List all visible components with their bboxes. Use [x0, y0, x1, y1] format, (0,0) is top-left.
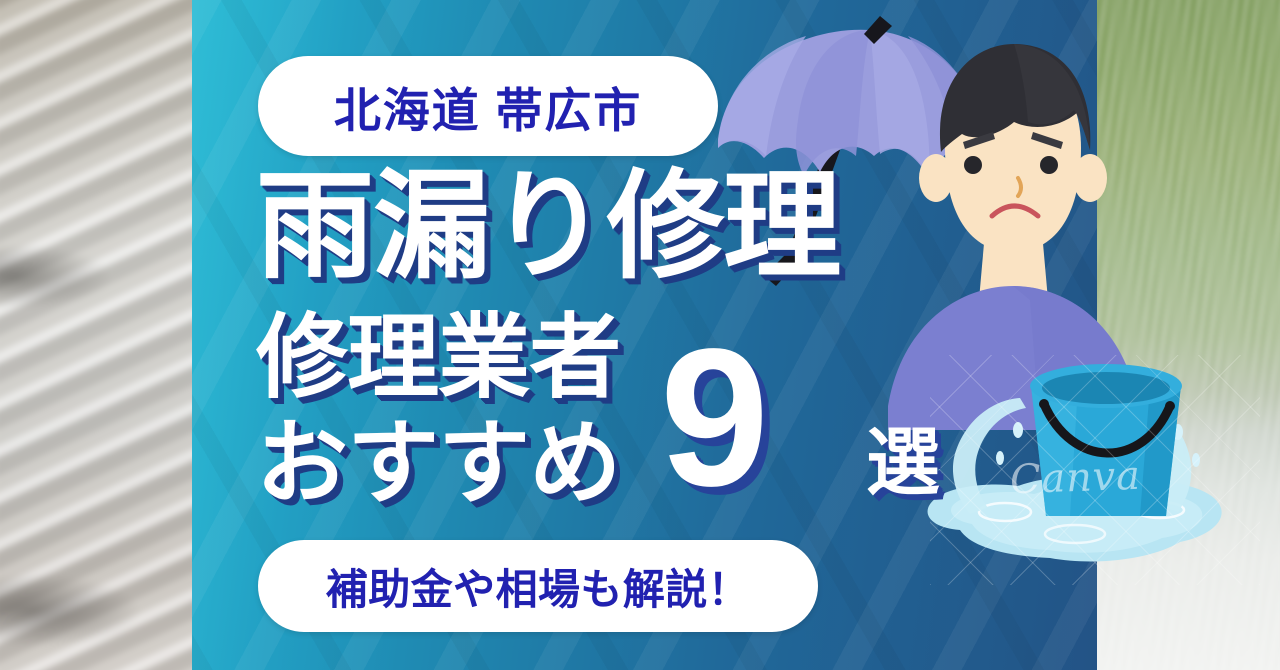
subtitle-line-2: おすすめ: [256, 418, 620, 510]
region-pill: 北海道 帯広市: [258, 56, 718, 156]
note-pill-text: 補助金や相場も解説！: [326, 556, 750, 617]
rain-photo-icon: [1085, 0, 1280, 670]
page-title: 雨漏り修理: [256, 168, 840, 286]
count-number: 9: [660, 320, 769, 516]
roof-photo-icon: [0, 0, 206, 670]
note-pill: 補助金や相場も解説！: [258, 540, 818, 632]
region-pill-text: 北海道 帯広市: [334, 72, 642, 141]
banner-canvas: Canva 北海道 帯広市 雨漏り修理 修理業者 おすすめ 9 選 補助金や相場…: [0, 0, 1280, 670]
subtitle-line-1: 修理業者: [256, 312, 620, 404]
count-unit: 選: [866, 426, 940, 500]
